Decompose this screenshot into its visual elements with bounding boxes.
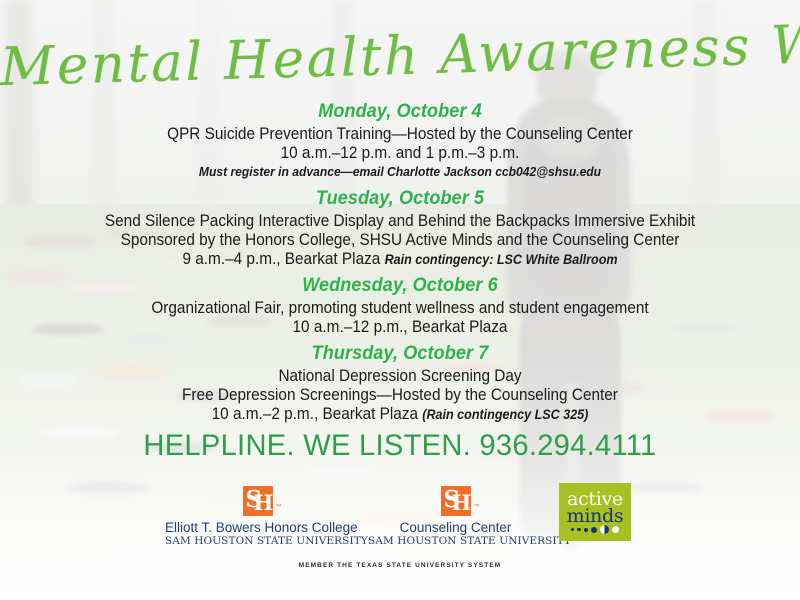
shsu-monogram-icon: S H ™ (441, 486, 471, 516)
trademark-icon: ™ (276, 504, 282, 510)
day-block-tuesday: Tuesday, October 5 Send Silence Packing … (0, 188, 800, 269)
day-line: QPR Suicide Prevention Training—Hosted b… (28, 125, 772, 144)
logo-counseling-center: S H ™ Counseling Center SAM HOUSTON STAT… (368, 486, 543, 548)
day-line: Free Depression Screenings—Hosted by the… (28, 386, 772, 405)
day-line: Organizational Fair, promoting student w… (28, 299, 772, 318)
shsu-monogram-icon: S H ™ (243, 486, 273, 516)
active-minds-mark-icon: active minds (559, 483, 631, 541)
day-line: 10 a.m.–12 p.m., Bearkat Plaza (28, 318, 772, 337)
helpline-banner: HELPLINE. WE LISTEN. 936.294.4111 (12, 429, 788, 463)
day-line: Send Silence Packing Interactive Display… (28, 212, 772, 231)
day-heading: Monday, October 4 (20, 101, 780, 123)
day-rain-note: (Rain contingency LSC 325) (422, 407, 588, 422)
monogram-h: H (254, 492, 274, 513)
day-line: Sponsored by the Honors College, SHSU Ac… (28, 231, 772, 250)
day-heading: Wednesday, October 6 (20, 275, 780, 297)
logo-honors-college: S H ™ Elliott T. Bowers Honors College S… (165, 486, 350, 548)
day-note: Must register in advance—email Charlotte… (28, 163, 772, 180)
day-time-line: 10 a.m.–2 p.m., Bearkat Plaza (Rain cont… (28, 405, 772, 424)
logo-active-minds: active minds (550, 483, 640, 541)
trademark-icon: ™ (474, 504, 480, 510)
logo-name: Counseling Center (368, 520, 543, 535)
day-line: 10 a.m.–12 p.m. and 1 p.m.–3 p.m. (28, 144, 772, 163)
flyer-canvas: Mental Health Awareness Week Monday, Oct… (0, 0, 800, 600)
day-block-thursday: Thursday, October 7 National Depression … (0, 343, 800, 424)
day-time-line: 9 a.m.–4 p.m., Bearkat Plaza Rain contin… (28, 250, 772, 269)
active-minds-line2: minds (559, 507, 631, 526)
day-heading: Thursday, October 7 (20, 343, 780, 365)
day-block-monday: Monday, October 4 QPR Suicide Prevention… (0, 101, 800, 180)
day-time: 9 a.m.–4 p.m., Bearkat Plaza (182, 250, 384, 268)
day-heading: Tuesday, October 5 (20, 188, 780, 210)
logo-subtitle: SAM HOUSTON STATE UNIVERSITY (165, 535, 350, 548)
page-title: Mental Health Awareness Week (0, 15, 800, 98)
logo-subtitle: SAM HOUSTON STATE UNIVERSITY (368, 535, 543, 548)
day-block-wednesday: Wednesday, October 6 Organizational Fair… (0, 275, 800, 337)
footer-logos: S H ™ Elliott T. Bowers Honors College S… (0, 486, 800, 556)
monogram-h: H (452, 492, 472, 513)
system-membership-line: MEMBER THE TEXAS STATE UNIVERSITY SYSTEM (0, 562, 800, 569)
logo-name: Elliott T. Bowers Honors College (165, 520, 350, 535)
day-rain-note: Rain contingency: LSC White Ballroom (385, 252, 618, 267)
active-minds-dots-icon (559, 525, 631, 534)
day-line: National Depression Screening Day (28, 367, 772, 386)
day-time: 10 a.m.–2 p.m., Bearkat Plaza (212, 405, 423, 423)
